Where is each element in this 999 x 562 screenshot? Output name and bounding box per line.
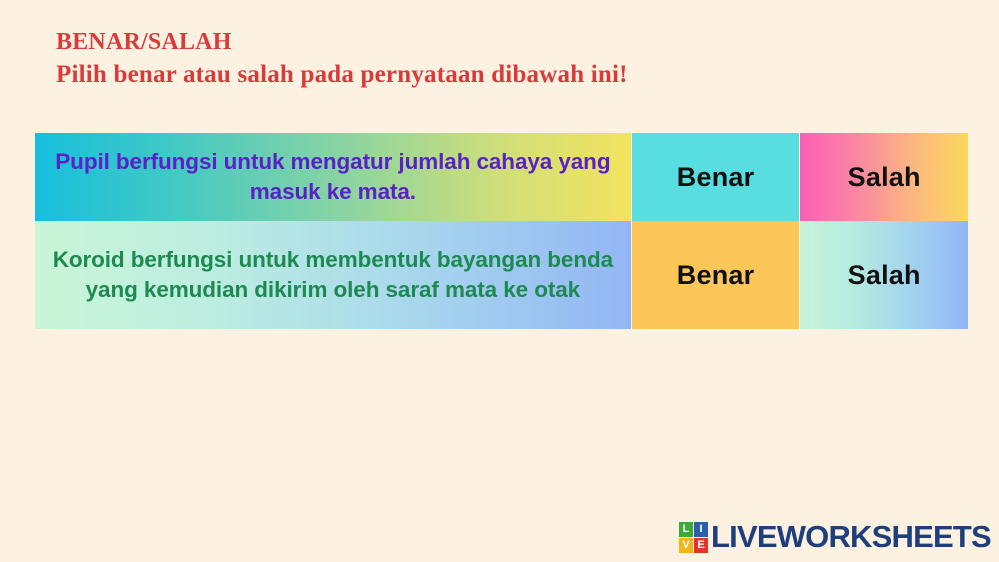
answer-option-salah-row-2[interactable]: Salah — [800, 221, 968, 329]
statement-text: Koroid berfungsi untuk membentuk bayanga… — [45, 245, 621, 305]
quiz-table: Pupil berfungsi untuk mengatur jumlah ca… — [35, 133, 968, 329]
answer-label: Benar — [677, 162, 755, 193]
statement-text: Pupil berfungsi untuk mengatur jumlah ca… — [45, 147, 621, 207]
logo-tile-e: E — [694, 538, 708, 553]
answer-label: Salah — [848, 260, 921, 291]
liveworksheets-logo: L I V E LIVEWORKSHEETS — [679, 519, 991, 555]
statement-cell-1: Pupil berfungsi untuk mengatur jumlah ca… — [35, 133, 631, 221]
answer-option-benar-row-2[interactable]: Benar — [632, 221, 800, 329]
heading-title: BENAR/SALAH — [56, 27, 936, 58]
logo-tile-i: I — [694, 522, 708, 537]
worksheet-heading: BENAR/SALAH Pilih benar atau salah pada … — [56, 27, 936, 91]
answer-label: Benar — [677, 260, 755, 291]
answer-option-salah-row-1[interactable]: Salah — [800, 133, 968, 221]
logo-tile-v: V — [679, 538, 693, 553]
heading-instruction: Pilih benar atau salah pada pernyataan d… — [56, 58, 936, 91]
answer-option-benar-row-1[interactable]: Benar — [632, 133, 800, 221]
logo-tile-l: L — [679, 522, 693, 537]
logo-tiles-icon: L I V E — [679, 522, 708, 553]
statement-cell-2: Koroid berfungsi untuk membentuk bayanga… — [35, 221, 631, 329]
answer-label: Salah — [848, 162, 921, 193]
table-row: Koroid berfungsi untuk membentuk bayanga… — [35, 221, 968, 329]
table-row: Pupil berfungsi untuk mengatur jumlah ca… — [35, 133, 968, 221]
logo-wordmark: LIVEWORKSHEETS — [711, 519, 991, 555]
